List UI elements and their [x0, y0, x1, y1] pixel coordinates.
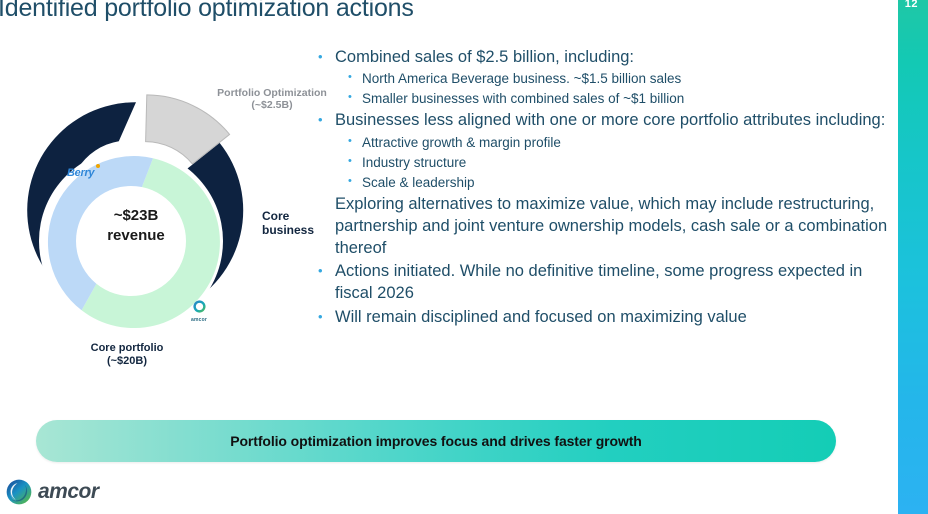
bullet-dot-icon: • — [318, 46, 335, 63]
chart-center-label: ~$23B revenue — [56, 206, 216, 245]
chart-label-core-portfolio: Core portfolio (~$20B) — [42, 342, 212, 368]
chart-label-core-portfolio-line1: Core portfolio — [91, 342, 164, 354]
bullet-item: •Businesses less aligned with one or mor… — [318, 109, 888, 131]
amcor-swoosh-icon — [6, 479, 32, 505]
footer-brand-wordmark: amcor — [38, 480, 99, 504]
page-number: 12 — [905, 0, 918, 10]
bullet-text: Combined sales of $2.5 billion, includin… — [335, 46, 888, 68]
bullet-item: •Combined sales of $2.5 billion, includi… — [318, 46, 888, 68]
bullet-dot-icon: • — [318, 109, 335, 126]
bullet-text: Attractive growth & margin profile — [362, 133, 888, 152]
bullet-item: •Attractive growth & margin profile — [318, 133, 888, 152]
bullet-dot-icon: • — [348, 89, 362, 103]
bullet-dot-icon: • — [348, 153, 362, 167]
bullet-dot-icon: • — [348, 69, 362, 83]
bullet-text: Smaller businesses with combined sales o… — [362, 89, 888, 108]
key-message-banner: Portfolio optimization improves focus an… — [36, 420, 836, 462]
bullet-item: •Actions initiated. While no definitive … — [318, 260, 888, 304]
bullet-text: Scale & leadership — [362, 173, 888, 192]
bullet-list: •Combined sales of $2.5 billion, includi… — [318, 46, 888, 329]
slide-edge-accent-bar — [898, 0, 928, 514]
bullet-text: Industry structure — [362, 153, 888, 172]
amcor-swoosh-icon — [193, 300, 206, 313]
bullet-dot-icon: • — [348, 173, 362, 187]
bullet-item: •Will remain disciplined and focused on … — [318, 306, 888, 328]
bullet-text: Will remain disciplined and focused on m… — [335, 306, 888, 328]
bullet-item: •North America Beverage business. ~$1.5 … — [318, 69, 888, 88]
slide-canvas: 12 Identified portfolio optimization act… — [0, 0, 928, 514]
bullet-item: •Industry structure — [318, 153, 888, 172]
footer-brand-logo: amcor — [6, 477, 99, 507]
chart-center-value: ~$23B — [114, 207, 159, 224]
bullet-text: North America Beverage business. ~$1.5 b… — [362, 69, 888, 88]
amcor-logo-mark: amcor — [184, 300, 214, 323]
chart-label-core-business-line2: business — [262, 223, 314, 237]
bullet-item: •Smaller businesses with combined sales … — [318, 89, 888, 108]
chart-label-core-portfolio-line2: (~$20B) — [107, 355, 147, 367]
bullet-text: Actions initiated. While no definitive t… — [335, 260, 888, 304]
key-message-banner-text: Portfolio optimization improves focus an… — [230, 433, 642, 449]
berry-logo-dot-icon — [96, 164, 100, 168]
bullet-dot-icon: • — [318, 306, 335, 323]
chart-label-portfolio-optimization-line2: (~$2.5B) — [251, 99, 292, 111]
chart-label-core-business-line1: Core — [262, 209, 289, 223]
chart-center-unit: revenue — [107, 227, 165, 244]
portfolio-donut-chart: ~$23B revenue Berry amcor — [4, 78, 334, 378]
page-title: Identified portfolio optimization action… — [0, 0, 414, 23]
bullet-dot-icon: • — [318, 260, 335, 277]
bullet-item: •Scale & leadership — [318, 173, 888, 192]
chart-label-portfolio-optimization-line1: Portfolio Optimization — [217, 87, 327, 99]
bullet-text: Businesses less aligned with one or more… — [335, 109, 888, 131]
bullet-dot-icon: • — [348, 133, 362, 147]
berry-logo-mark: Berry — [67, 167, 94, 179]
amcor-logo-wordmark: amcor — [184, 317, 214, 323]
bullet-paragraph: Exploring alternatives to maximize value… — [318, 193, 888, 259]
